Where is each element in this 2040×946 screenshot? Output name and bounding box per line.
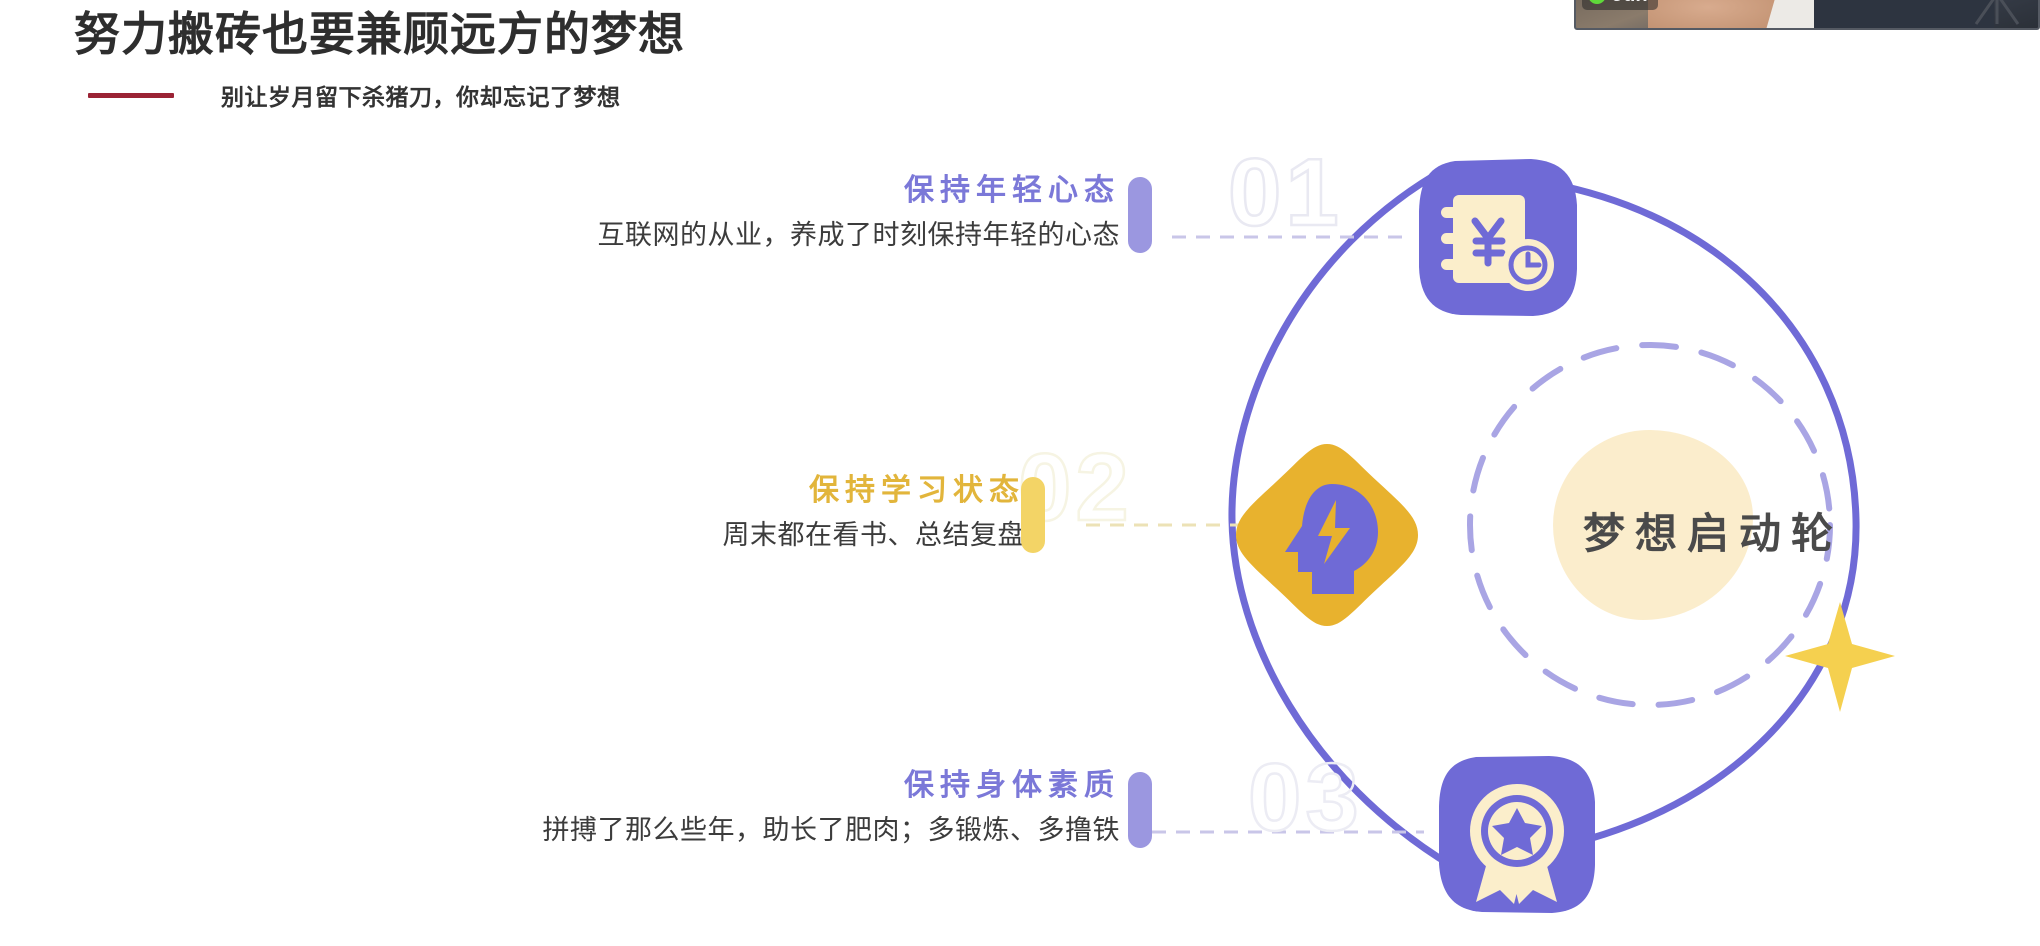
item-description: 周末都在看书、总结复盘 — [723, 513, 1026, 552]
sparkle-icon — [1785, 602, 1895, 712]
slide-subtitle: 别让岁月留下杀猪刀，你却忘记了梦想 — [221, 78, 621, 112]
item-description: 拼搏了那么些年，助长了肥肉；多锻炼、多撸铁 — [543, 808, 1121, 847]
subtitle-row: 别让岁月留下杀猪刀，你却忘记了梦想 — [88, 78, 621, 112]
item-pill-marker — [1021, 477, 1045, 553]
number-watermark-01: 01 — [1228, 145, 1343, 241]
item-pill-marker — [1128, 772, 1152, 848]
head-lightning-bolt-icon — [1232, 440, 1422, 630]
item-title: 保持年轻心态 — [904, 165, 1120, 209]
participant-name: Jun — [1612, 0, 1648, 7]
item-title: 保持身体素质 — [904, 760, 1120, 804]
item-description: 互联网的从业，养成了时刻保持年轻的心态 — [598, 213, 1121, 252]
medal-star-ribbon-icon — [1434, 752, 1599, 917]
microphone-active-icon — [1588, 0, 1606, 4]
participant-name-badge: Jun — [1582, 0, 1658, 10]
subtitle-rule-icon — [88, 93, 174, 98]
notebook-yen-clock-icon — [1415, 155, 1580, 320]
center-label: 梦想启动轮 — [1528, 500, 1888, 561]
page-title: 努力搬砖也要兼顾远方的梦想 — [74, 0, 685, 64]
video-call-overlay[interactable]: Jun — [1574, 0, 2040, 30]
number-watermark-03: 03 — [1248, 750, 1363, 846]
item-title: 保持学习状态 — [809, 465, 1025, 509]
item-pill-marker — [1128, 177, 1152, 253]
presentation-slide: 努力搬砖也要兼顾远方的梦想 别让岁月留下杀猪刀，你却忘记了梦想 梦想启动轮 01… — [0, 0, 2040, 946]
tripod-icon — [1964, 0, 2030, 26]
